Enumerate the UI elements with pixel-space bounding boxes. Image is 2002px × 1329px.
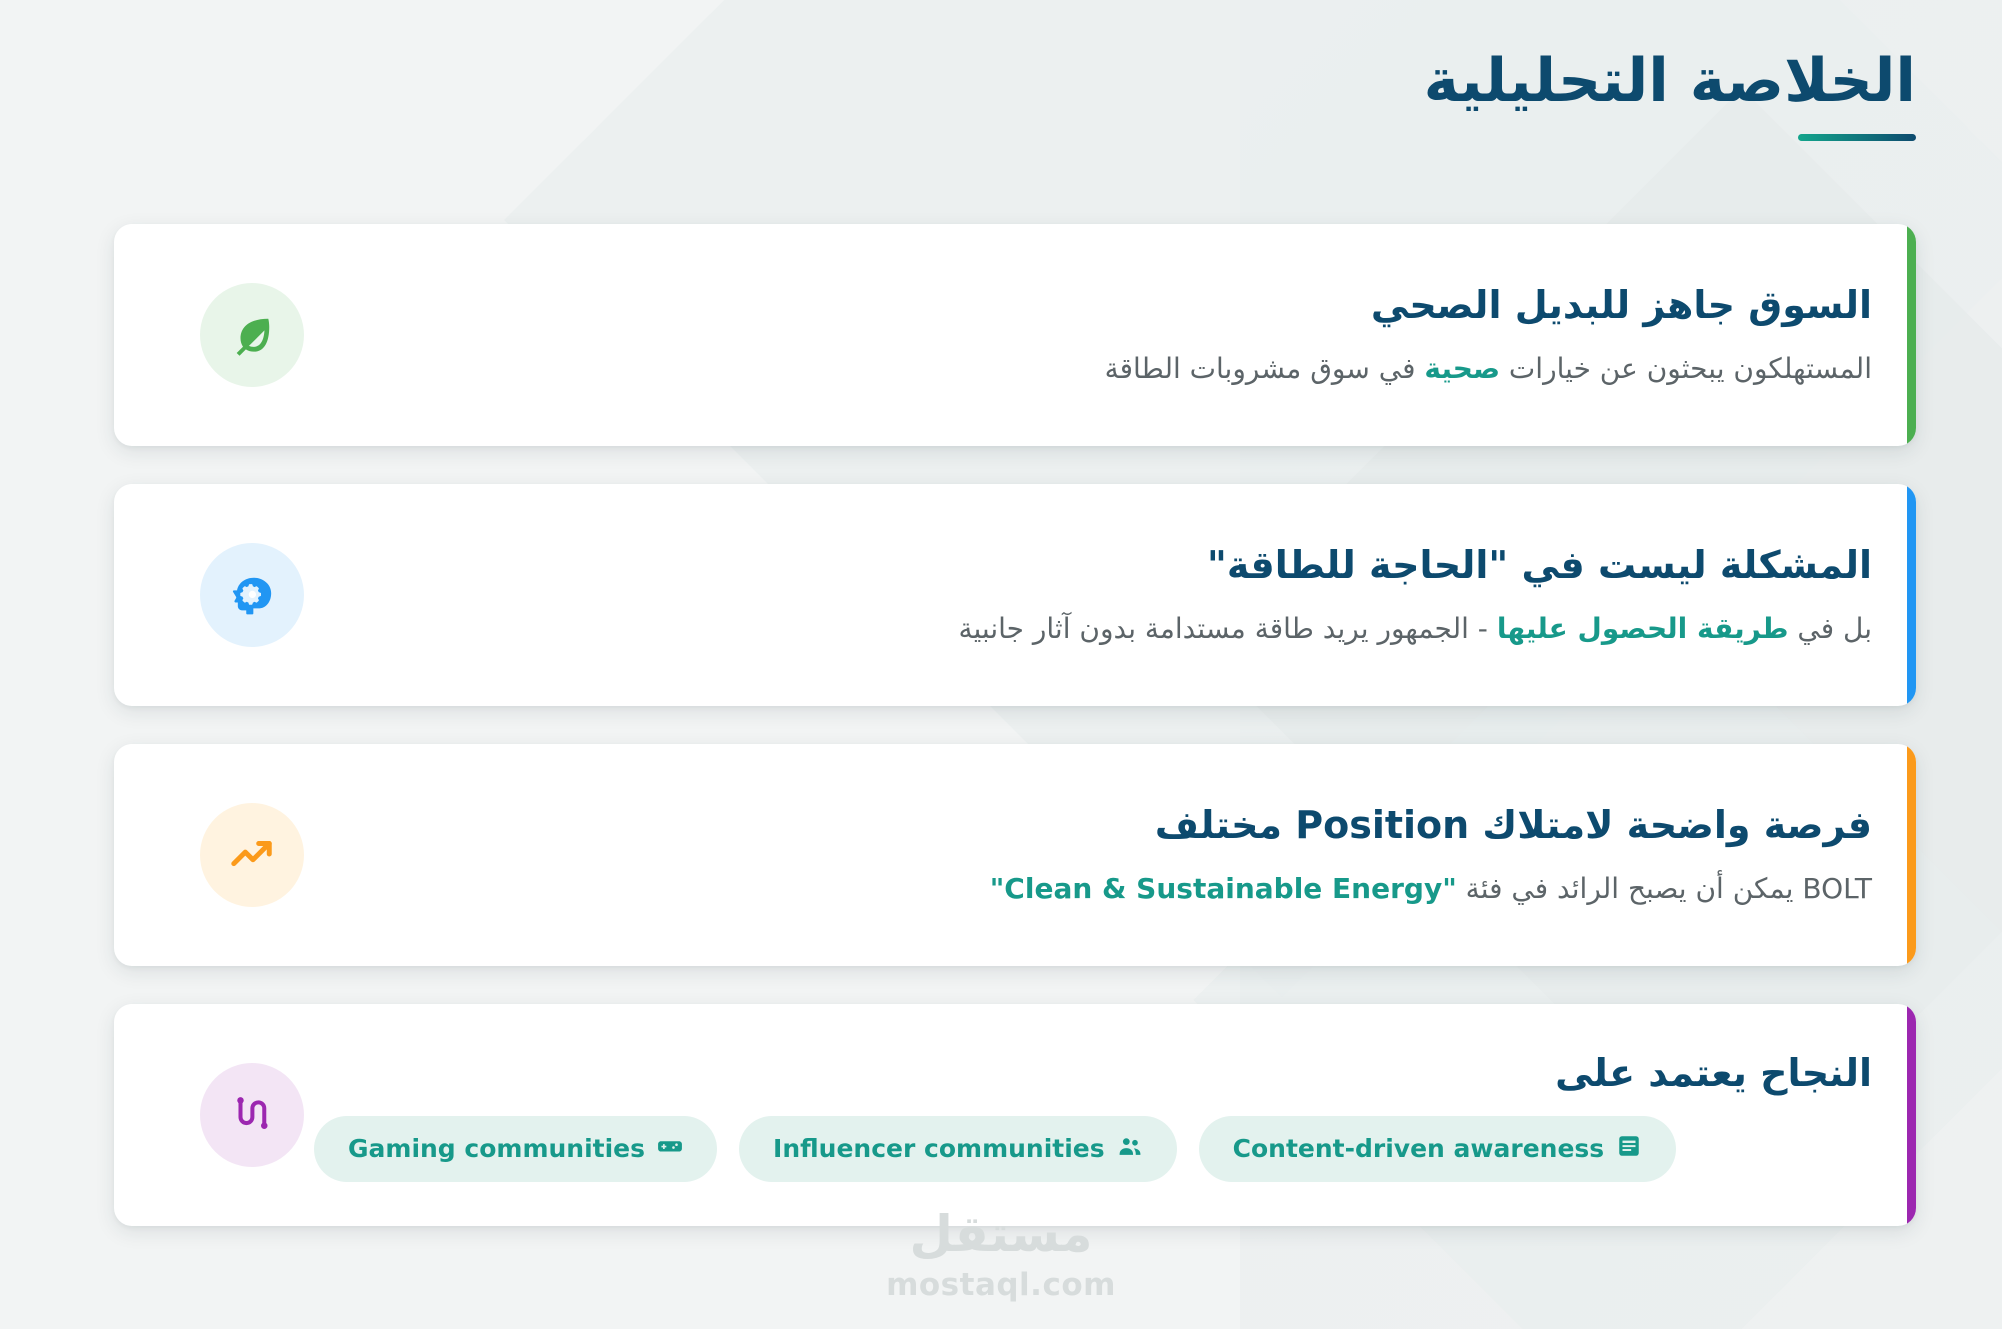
title-underline bbox=[1798, 134, 1916, 141]
subtitle-part-before: BOLT يمكن أن يصبح الرائد في فئة bbox=[1457, 872, 1872, 905]
insight-card-market-ready[interactable]: السوق جاهز للبديل الصحي المستهلكون يبحثو… bbox=[114, 224, 1916, 446]
card-body: فرصة واضحة لامتلاك Position مختلف BOLT ي… bbox=[304, 800, 1872, 909]
network-nodes-icon bbox=[229, 1092, 275, 1138]
chip-influencer-communities[interactable]: Influencer communities bbox=[739, 1116, 1177, 1182]
subtitle-part-after: في سوق مشروبات الطاقة bbox=[1105, 352, 1425, 385]
gamepad-icon bbox=[657, 1133, 683, 1165]
chip-label: Influencer communities bbox=[773, 1134, 1105, 1163]
card-title: السوق جاهز للبديل الصحي bbox=[314, 280, 1872, 331]
card-icon-badge bbox=[200, 543, 304, 647]
insight-card-success-factors[interactable]: النجاح يعتمد على Content-driven awarenes… bbox=[114, 1004, 1916, 1226]
insight-card-problem-framing[interactable]: المشكلة ليست في "الحاجة للطاقة" بل في طر… bbox=[114, 484, 1916, 706]
subtitle-part-before: المستهلكون يبحثون عن خيارات bbox=[1500, 352, 1872, 385]
card-body: المشكلة ليست في "الحاجة للطاقة" بل في طر… bbox=[304, 540, 1872, 649]
chip-label: Gaming communities bbox=[348, 1134, 645, 1163]
page-title: الخلاصة التحليلية bbox=[1424, 48, 1916, 114]
card-subtitle: المستهلكون يبحثون عن خيارات صحية في سوق … bbox=[314, 348, 1872, 390]
card-body: السوق جاهز للبديل الصحي المستهلكون يبحثو… bbox=[304, 280, 1872, 389]
subtitle-highlight: "Clean & Sustainable Energy" bbox=[990, 872, 1457, 905]
success-factor-chip-row: Content-driven awareness Influencer comm… bbox=[314, 1116, 1872, 1182]
page-header: الخلاصة التحليلية bbox=[1424, 48, 1916, 141]
people-group-icon bbox=[1117, 1133, 1143, 1165]
subtitle-highlight: طريقة الحصول عليها bbox=[1497, 612, 1789, 645]
chip-content-driven-awareness[interactable]: Content-driven awareness bbox=[1199, 1116, 1677, 1182]
card-title: المشكلة ليست في "الحاجة للطاقة" bbox=[314, 540, 1872, 591]
trending-up-icon bbox=[229, 832, 275, 878]
insight-card-list: السوق جاهز للبديل الصحي المستهلكون يبحثو… bbox=[114, 224, 1916, 1226]
card-subtitle: BOLT يمكن أن يصبح الرائد في فئة "Clean &… bbox=[314, 868, 1872, 910]
card-icon-badge bbox=[200, 803, 304, 907]
leaf-icon bbox=[229, 312, 275, 358]
chip-gaming-communities[interactable]: Gaming communities bbox=[314, 1116, 717, 1182]
insight-card-positioning-opportunity[interactable]: فرصة واضحة لامتلاك Position مختلف BOLT ي… bbox=[114, 744, 1916, 966]
card-icon-badge bbox=[200, 1063, 304, 1167]
chip-label: Content-driven awareness bbox=[1233, 1134, 1605, 1163]
subtitle-part-after: - الجمهور يريد طاقة مستدامة بدون آثار جا… bbox=[958, 612, 1496, 645]
card-title: فرصة واضحة لامتلاك Position مختلف bbox=[314, 800, 1872, 851]
subtitle-part-before: بل في bbox=[1788, 612, 1872, 645]
article-icon bbox=[1616, 1133, 1642, 1165]
card-body: النجاح يعتمد على Content-driven awarenes… bbox=[304, 1048, 1872, 1181]
subtitle-highlight: صحية bbox=[1424, 352, 1500, 385]
card-subtitle: بل في طريقة الحصول عليها - الجمهور يريد … bbox=[314, 608, 1872, 650]
card-icon-badge bbox=[200, 283, 304, 387]
card-title: النجاح يعتمد على bbox=[314, 1048, 1872, 1099]
brain-gear-icon bbox=[229, 572, 275, 618]
